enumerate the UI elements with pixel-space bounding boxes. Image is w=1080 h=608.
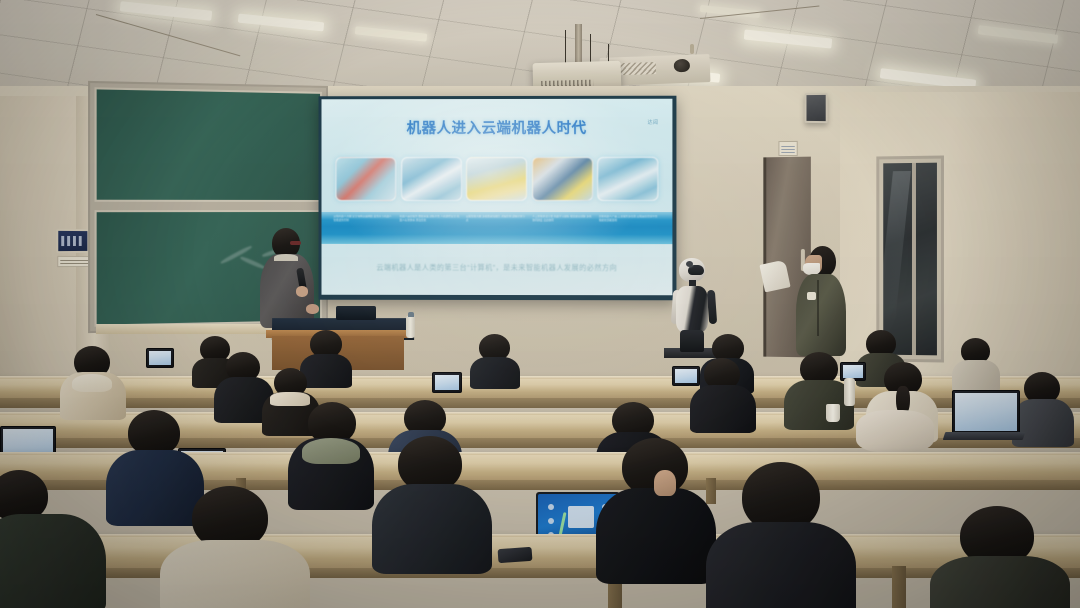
laptop[interactable] xyxy=(432,372,462,393)
wall-sign xyxy=(778,141,797,156)
robot-head xyxy=(679,258,705,282)
tablet-app-icon[interactable] xyxy=(548,518,554,524)
audience-member xyxy=(690,358,756,428)
projection-screen: 机器人进入云端机器人时代 达闼 云端机器人大脑 安全专网高速网络 柔性关节机器人… xyxy=(319,96,677,301)
presentation-slide: 机器人进入云端机器人时代 达闼 云端机器人大脑 安全专网高速网络 柔性关节机器人… xyxy=(322,99,673,296)
presenter-collar xyxy=(274,254,298,261)
desk-leg xyxy=(892,566,906,608)
slide-logo: 达闼 xyxy=(647,119,658,126)
attendee-zipper xyxy=(817,280,819,336)
slide-title: 机器人进入云端机器人时代 xyxy=(322,117,673,138)
slide-thumbnail-1 xyxy=(335,157,396,201)
band-column-2: 机器人运营服务 数据采集 训练平台 人机协作安全 机器人标准体系 算法优化 xyxy=(400,215,461,242)
standing-attendee xyxy=(793,246,849,356)
laptop[interactable] xyxy=(146,348,174,368)
wall-control-panel[interactable] xyxy=(56,229,89,253)
window-mullion xyxy=(912,163,916,355)
torso xyxy=(952,360,1000,392)
robot-arm-right xyxy=(707,290,717,324)
torso xyxy=(690,385,756,433)
bottle-cap xyxy=(408,312,414,317)
presenter-glasses xyxy=(290,241,301,245)
slide-thumbnail-2 xyxy=(401,157,462,201)
slide-thumbnail-4 xyxy=(532,157,593,201)
audience-member xyxy=(372,436,492,566)
band-column-5: 智能机器人产品 工业服务多形态 云端运营管理平台 规模化部署落地 xyxy=(599,215,661,242)
sprinkler-head xyxy=(690,44,694,54)
audience-member xyxy=(706,462,856,608)
tablet-app-icon[interactable] xyxy=(548,504,554,510)
wall-label-plate xyxy=(57,256,92,267)
torso xyxy=(0,514,106,608)
laptop-screen xyxy=(149,351,171,365)
projector-mount-pole xyxy=(575,24,582,64)
hood xyxy=(72,374,112,392)
chalkboard-upper-panel xyxy=(94,87,322,202)
torso xyxy=(470,357,520,389)
laptop-screen xyxy=(955,393,1017,431)
slide-thumbnail-5 xyxy=(597,157,658,201)
laptop-screen xyxy=(435,375,459,390)
raised-hand xyxy=(654,470,676,496)
torso xyxy=(930,556,1070,608)
security-camera-dome xyxy=(674,59,690,73)
hood xyxy=(302,438,360,464)
laptop-keyboard[interactable] xyxy=(943,432,1026,440)
drink-cup[interactable] xyxy=(826,404,840,422)
presenter xyxy=(258,228,320,328)
wall-speaker xyxy=(805,93,828,123)
presenter-hand xyxy=(296,286,308,297)
tablet-window xyxy=(568,506,594,528)
torso xyxy=(706,522,856,608)
laptop[interactable] xyxy=(952,390,1020,434)
audience-member xyxy=(930,506,1070,608)
slide-caption: 云端机器人是人类的第三台“计算机”，是未来智能机器人发展的必然方向 xyxy=(322,263,673,273)
band-column-4: 人工智能算法引擎 机器学习训练 视觉语音理解 多机协同调度 云边协同 xyxy=(532,215,594,242)
console-monitor xyxy=(336,306,376,320)
attendee-badge xyxy=(807,292,816,300)
torso xyxy=(372,484,492,574)
attendee-torso xyxy=(796,274,846,356)
water-bottle[interactable] xyxy=(406,316,415,338)
band-column-3: 云端智能大脑 多模态感知融合 决策控制 边缘计算节点 xyxy=(466,215,527,242)
phone-on-desk[interactable] xyxy=(498,547,533,563)
audience-member xyxy=(60,346,126,416)
slide-feature-band: 云端机器人大脑 安全专网高速网络 柔性关节机器人 智能柔性控制 机器人运营服务 … xyxy=(322,212,673,244)
audience-member xyxy=(0,470,120,608)
lecture-hall-photo: 机器人进入云端机器人时代 达闼 云端机器人大脑 安全专网高速网络 柔性关节机器人… xyxy=(0,0,1080,608)
torso xyxy=(160,540,310,608)
audience-member xyxy=(952,338,1000,388)
backpack xyxy=(856,410,934,452)
audience-member xyxy=(648,470,688,510)
audience-member xyxy=(160,486,310,608)
slide-thumbnail-3 xyxy=(466,157,527,201)
presenter-hand-right xyxy=(306,304,319,314)
robot-torso xyxy=(676,286,708,332)
water-bottle[interactable] xyxy=(844,378,855,406)
slide-thumbnail-strip xyxy=(335,157,658,201)
audience-member xyxy=(470,334,520,386)
band-column-1: 云端机器人大脑 安全专网高速网络 柔性关节机器人 智能柔性控制 xyxy=(333,215,394,242)
robot-eye-sensor xyxy=(686,261,693,267)
